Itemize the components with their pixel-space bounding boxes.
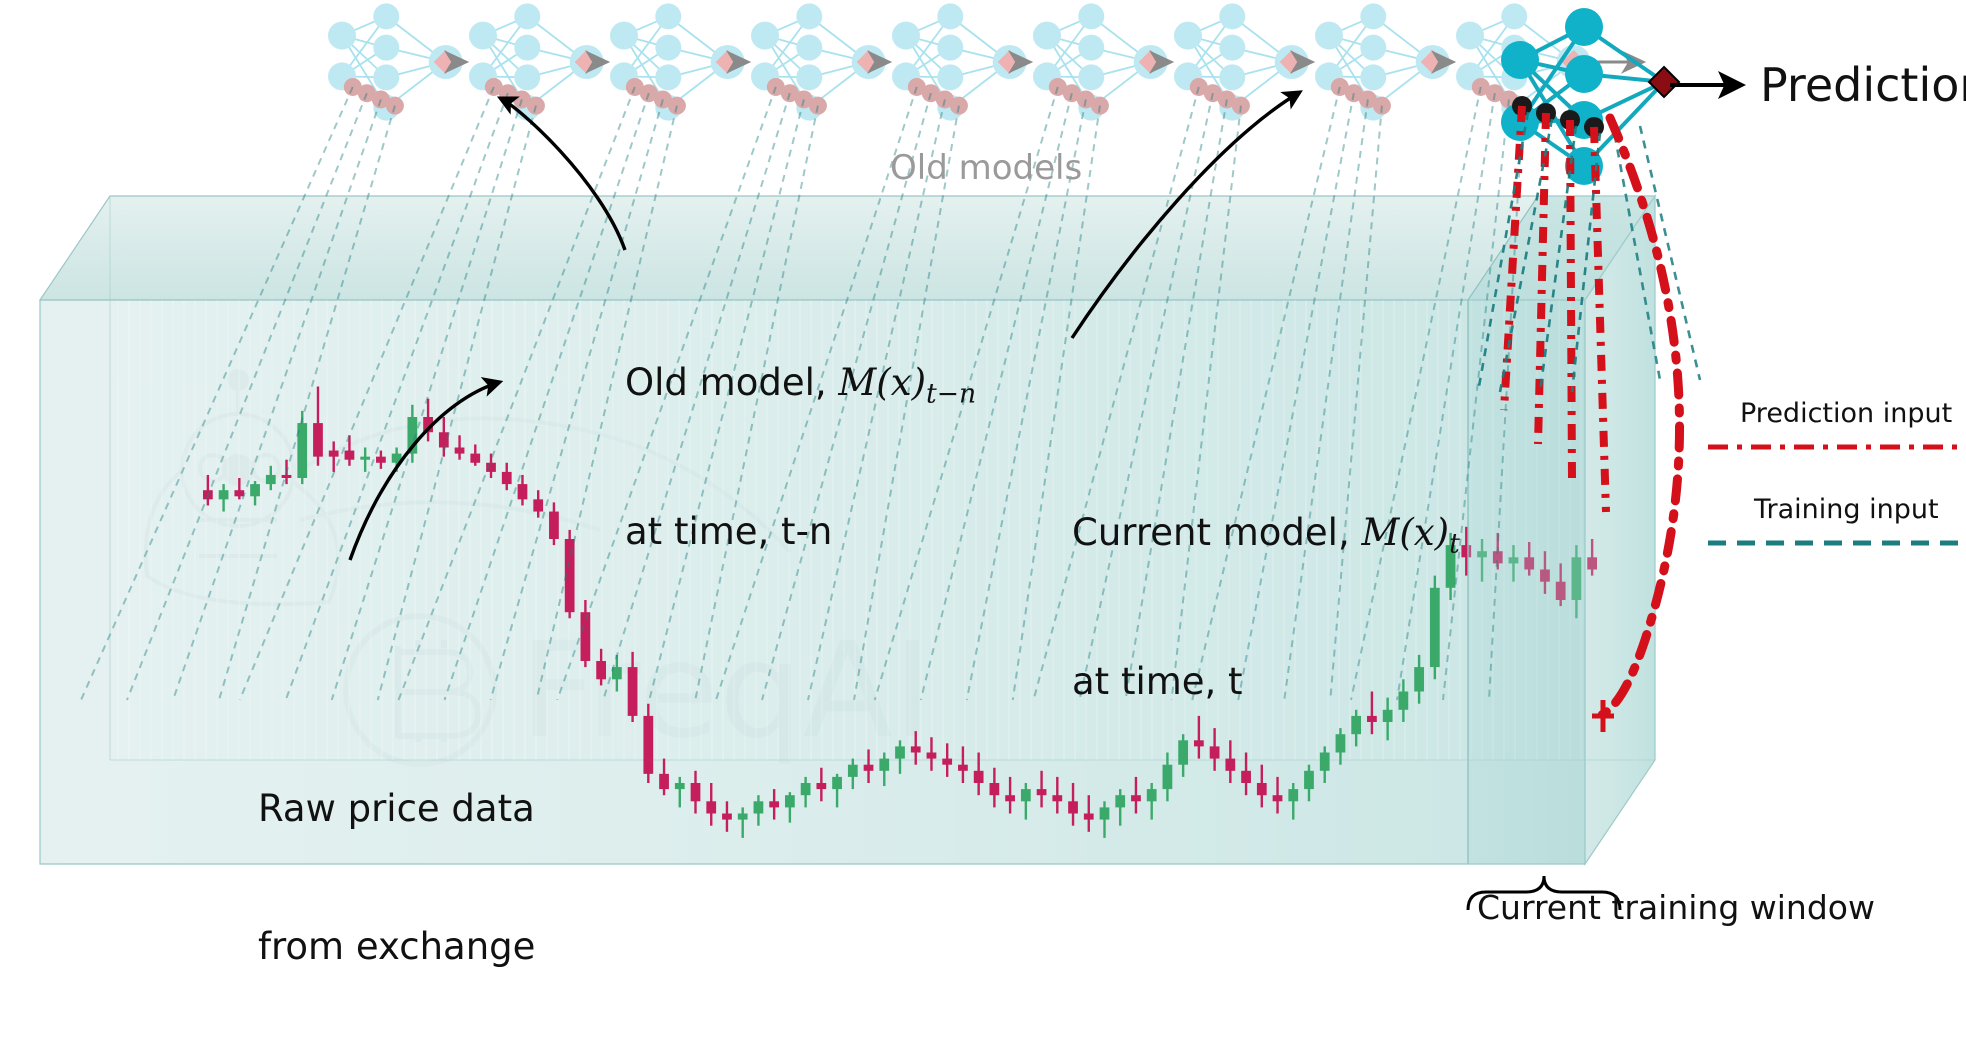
old-model-math-base: M(x) [838, 361, 926, 404]
old-models-group [328, 3, 1642, 120]
current-model-annotation-prefix: Current model, [1072, 511, 1361, 554]
raw-price-annotation-line2: from exchange [258, 924, 535, 970]
legend-label-training-input: Training input [1754, 494, 1939, 525]
current-model-annotation-line2: at time, t [1072, 659, 1460, 705]
prediction-label: Prediction [1760, 58, 1966, 112]
legend-label-prediction-input: Prediction input [1740, 398, 1952, 429]
current-model-math-base: M(x) [1361, 511, 1449, 554]
training-window-label: Current training window [1477, 888, 1875, 927]
current-model-math-subscript: t [1449, 528, 1460, 559]
old-models-label: Old models [890, 148, 1082, 188]
old-model-annotation-line2: at time, t-n [625, 509, 976, 555]
old-model-annotation-prefix: Old model, [625, 361, 838, 404]
raw-price-annotation: Raw price data from exchange [258, 694, 535, 1062]
old-model-annotation: Old model, M(x)t−n at time, t-n [625, 268, 976, 647]
current-model-annotation-line1: Current model, M(x)t [1072, 510, 1460, 567]
raw-price-annotation-line1: Raw price data [258, 786, 535, 832]
diagram-canvas: FreqAI [0, 0, 1966, 981]
old-model-math-subscript: t−n [926, 378, 976, 409]
current-model-annotation: Current model, M(x)t at time, t [1072, 418, 1460, 797]
old-model-annotation-line1: Old model, M(x)t−n [625, 360, 976, 417]
